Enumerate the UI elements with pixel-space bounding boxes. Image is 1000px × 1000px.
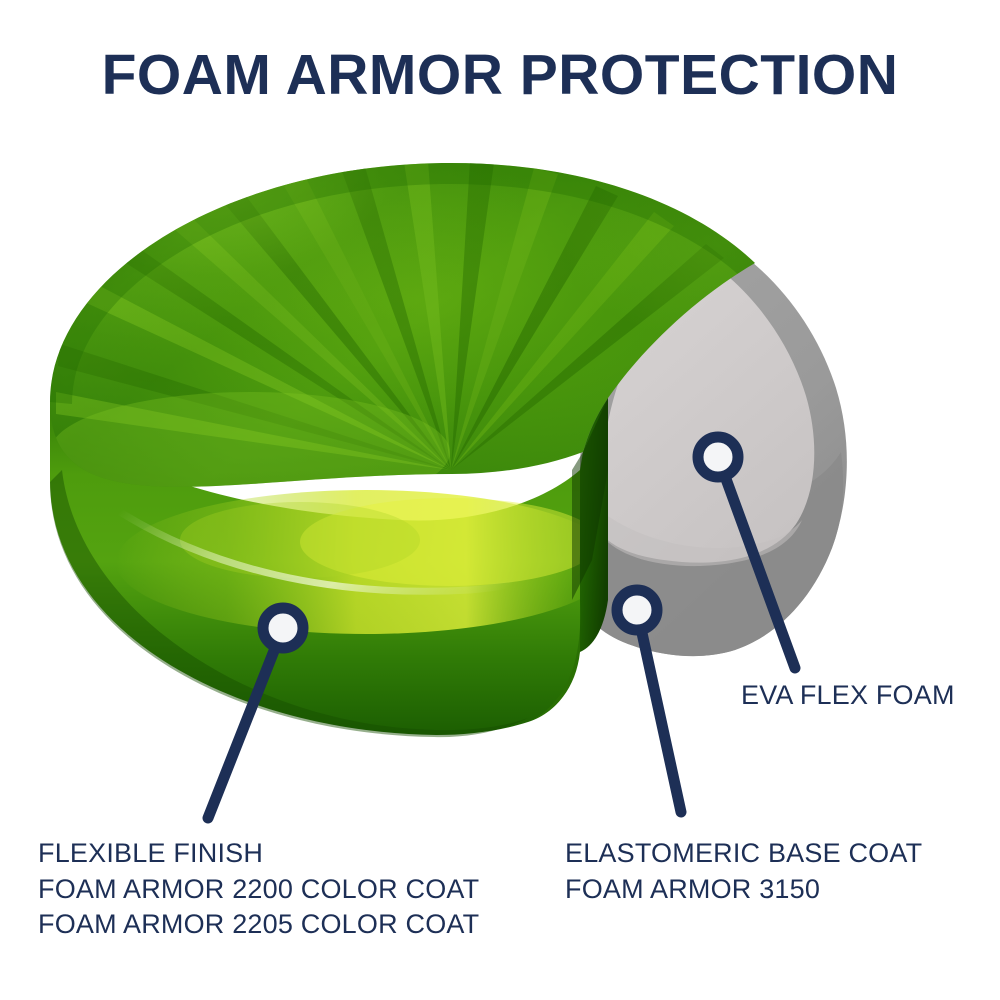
callout-label-line: FLEXIBLE FINISH [38,836,479,872]
callout-dot-flexible-finish[interactable] [263,608,303,648]
callout-label-line: ELASTOMERIC BASE COAT [565,836,922,872]
callout-dot-eva-flex-foam[interactable] [698,437,738,477]
green-coated-body-group [0,118,1000,737]
callout-dot-elastomeric[interactable] [617,590,657,630]
callout-label-line: FOAM ARMOR 2200 COLOR COAT [38,872,479,908]
diagram-page: FOAM ARMOR PROTECTION [0,0,1000,1000]
callout-label-line: FOAM ARMOR 2205 COLOR COAT [38,907,479,943]
side-wall-glow [180,502,420,578]
callout-label-line: EVA FLEX FOAM [741,678,955,714]
callout-label-eva-flex-foam: EVA FLEX FOAM [741,678,955,714]
top-face-streaks [0,118,1000,540]
callout-label-line: FOAM ARMOR 3150 [565,872,922,908]
callout-label-flexible-finish: FLEXIBLE FINISH FOAM ARMOR 2200 COLOR CO… [38,836,479,943]
callout-label-elastomeric-base-coat: ELASTOMERIC BASE COAT FOAM ARMOR 3150 [565,836,922,907]
